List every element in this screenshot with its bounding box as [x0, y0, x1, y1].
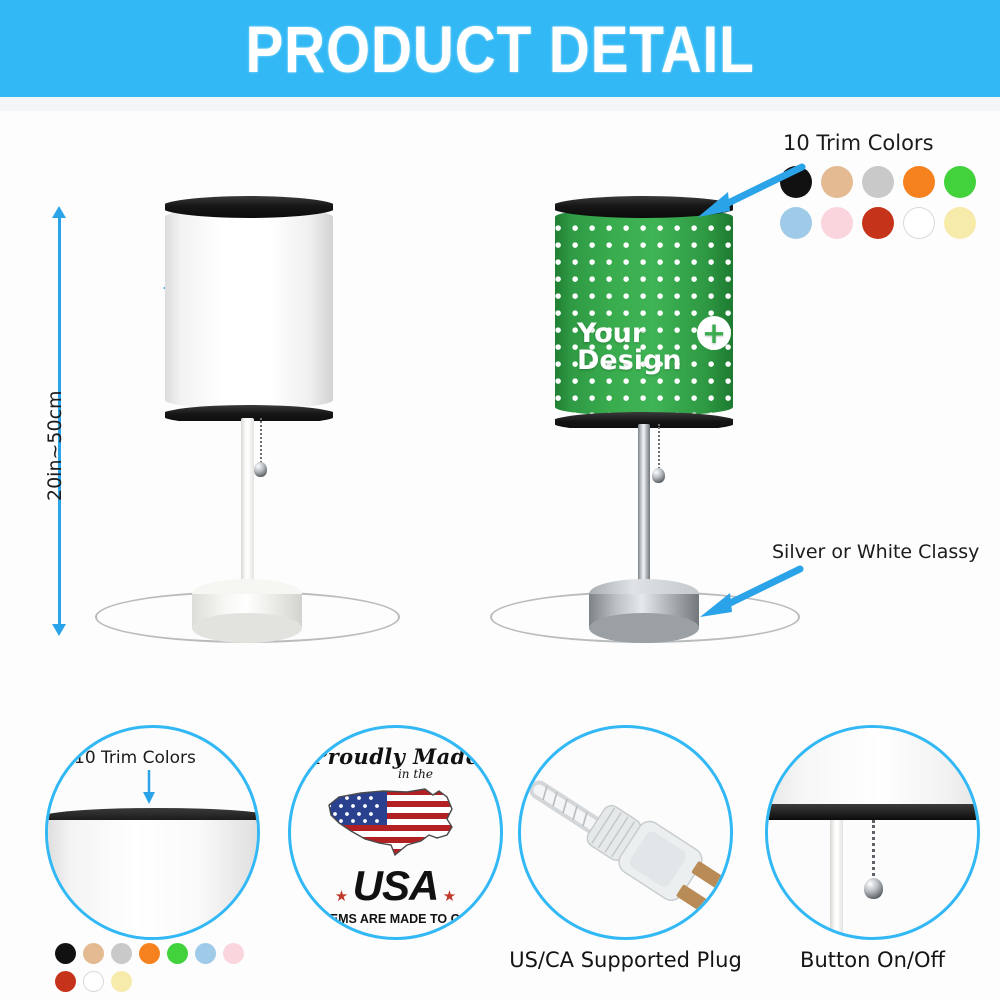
- white-lamp-shade: [165, 196, 333, 421]
- trim-swatch-pink[interactable]: [821, 207, 853, 239]
- trim-swatch-pink[interactable]: [223, 943, 244, 964]
- trim-down-arrow-icon: [140, 770, 158, 806]
- usa-subtitle: ALL ITEMS ARE MADE TO ORDER!: [291, 912, 500, 926]
- trim-swatch-red[interactable]: [862, 207, 894, 239]
- circle-shade-body-top: [765, 725, 980, 808]
- design-line-2: Design: [577, 347, 727, 374]
- circle-shade-trim: [765, 804, 980, 820]
- usa-script-small: in the: [331, 767, 500, 781]
- trim-swatch-green[interactable]: [944, 166, 976, 198]
- usa-script-top: Proudly Made: [291, 744, 500, 769]
- green-lamp-shade[interactable]: Your Design +: [555, 196, 733, 428]
- trim-swatch-orange[interactable]: [903, 166, 935, 198]
- circle-shade-body: [45, 820, 260, 940]
- trim-swatch-light-blue[interactable]: [195, 943, 216, 964]
- lamp-base: [192, 579, 302, 645]
- lamp-base: [589, 579, 699, 645]
- circle-lamp-pole: [830, 820, 843, 940]
- trim-swatch-orange[interactable]: [139, 943, 160, 964]
- usa-big-row: ★ USA ★: [291, 862, 500, 910]
- header-banner: PRODUCT DETAIL: [0, 0, 1000, 97]
- pull-chain[interactable]: [260, 418, 262, 466]
- main-stage: 20in~50cm 7in~18cm: [0, 111, 1000, 671]
- product-detail-page: PRODUCT DETAIL 20in~50cm 7in~18cm: [0, 0, 1000, 1000]
- bottom-trim-swatch-row[interactable]: [55, 943, 270, 992]
- trim-swatch-black[interactable]: [55, 943, 76, 964]
- switch-circle-caption: Button On/Off: [745, 948, 1000, 972]
- trim-swatch-yellow[interactable]: [111, 971, 132, 992]
- star-left-icon: ★: [335, 888, 348, 905]
- circle-pull-chain-bead[interactable]: [864, 878, 883, 899]
- plug-circle: [518, 725, 733, 940]
- your-design-placeholder[interactable]: Your Design +: [577, 320, 727, 374]
- trim-colors-circle: 10 Trim Colors: [45, 725, 260, 940]
- trim-colors-heading: 10 Trim Colors: [783, 131, 934, 155]
- trim-colors-swatch-row[interactable]: [780, 166, 1000, 239]
- height-dimension-label: 20in~50cm: [44, 390, 66, 501]
- circle-trim-colors-label: 10 Trim Colors: [74, 748, 196, 768]
- add-design-plus-icon[interactable]: +: [697, 316, 731, 350]
- usa-flag-map-icon: [321, 783, 471, 863]
- switch-circle: [765, 725, 980, 940]
- feature-circles-row: 10 Trim Colors Proudly Made in the: [0, 700, 1000, 1000]
- shade-surface-pattern: Your Design +: [555, 208, 733, 416]
- pull-chain-bead[interactable]: [254, 462, 267, 477]
- page-title: PRODUCT DETAIL: [245, 11, 754, 87]
- pull-chain-bead[interactable]: [652, 468, 665, 483]
- trim-swatch-green[interactable]: [167, 943, 188, 964]
- trim-swatch-tan[interactable]: [83, 943, 104, 964]
- pull-chain[interactable]: [658, 424, 660, 472]
- circle-pull-chain[interactable]: [872, 820, 875, 882]
- trim-pointer-arrow: [690, 159, 810, 219]
- plug-circle-caption: US/CA Supported Plug: [498, 948, 753, 972]
- made-in-usa-circle: Proudly Made in the: [288, 725, 503, 940]
- star-right-icon: ★: [443, 888, 456, 905]
- base-finish-pointer-arrow: [690, 559, 810, 619]
- header-underline: [0, 97, 1000, 111]
- trim-swatch-white[interactable]: [83, 971, 104, 992]
- shade-surface: [165, 208, 333, 409]
- trim-swatch-gray[interactable]: [111, 943, 132, 964]
- trim-swatch-tan[interactable]: [821, 166, 853, 198]
- power-plug-icon: [521, 728, 733, 940]
- trim-swatch-red[interactable]: [55, 971, 76, 992]
- trim-swatch-yellow[interactable]: [944, 207, 976, 239]
- white-lamp: [155, 196, 340, 656]
- trim-swatch-white[interactable]: [903, 207, 935, 239]
- shade-trim-top: [165, 196, 333, 218]
- trim-swatch-gray[interactable]: [862, 166, 894, 198]
- usa-big-text: USA: [353, 862, 439, 909]
- usa-badge: Proudly Made in the: [291, 744, 500, 926]
- plus-glyph: +: [702, 320, 726, 346]
